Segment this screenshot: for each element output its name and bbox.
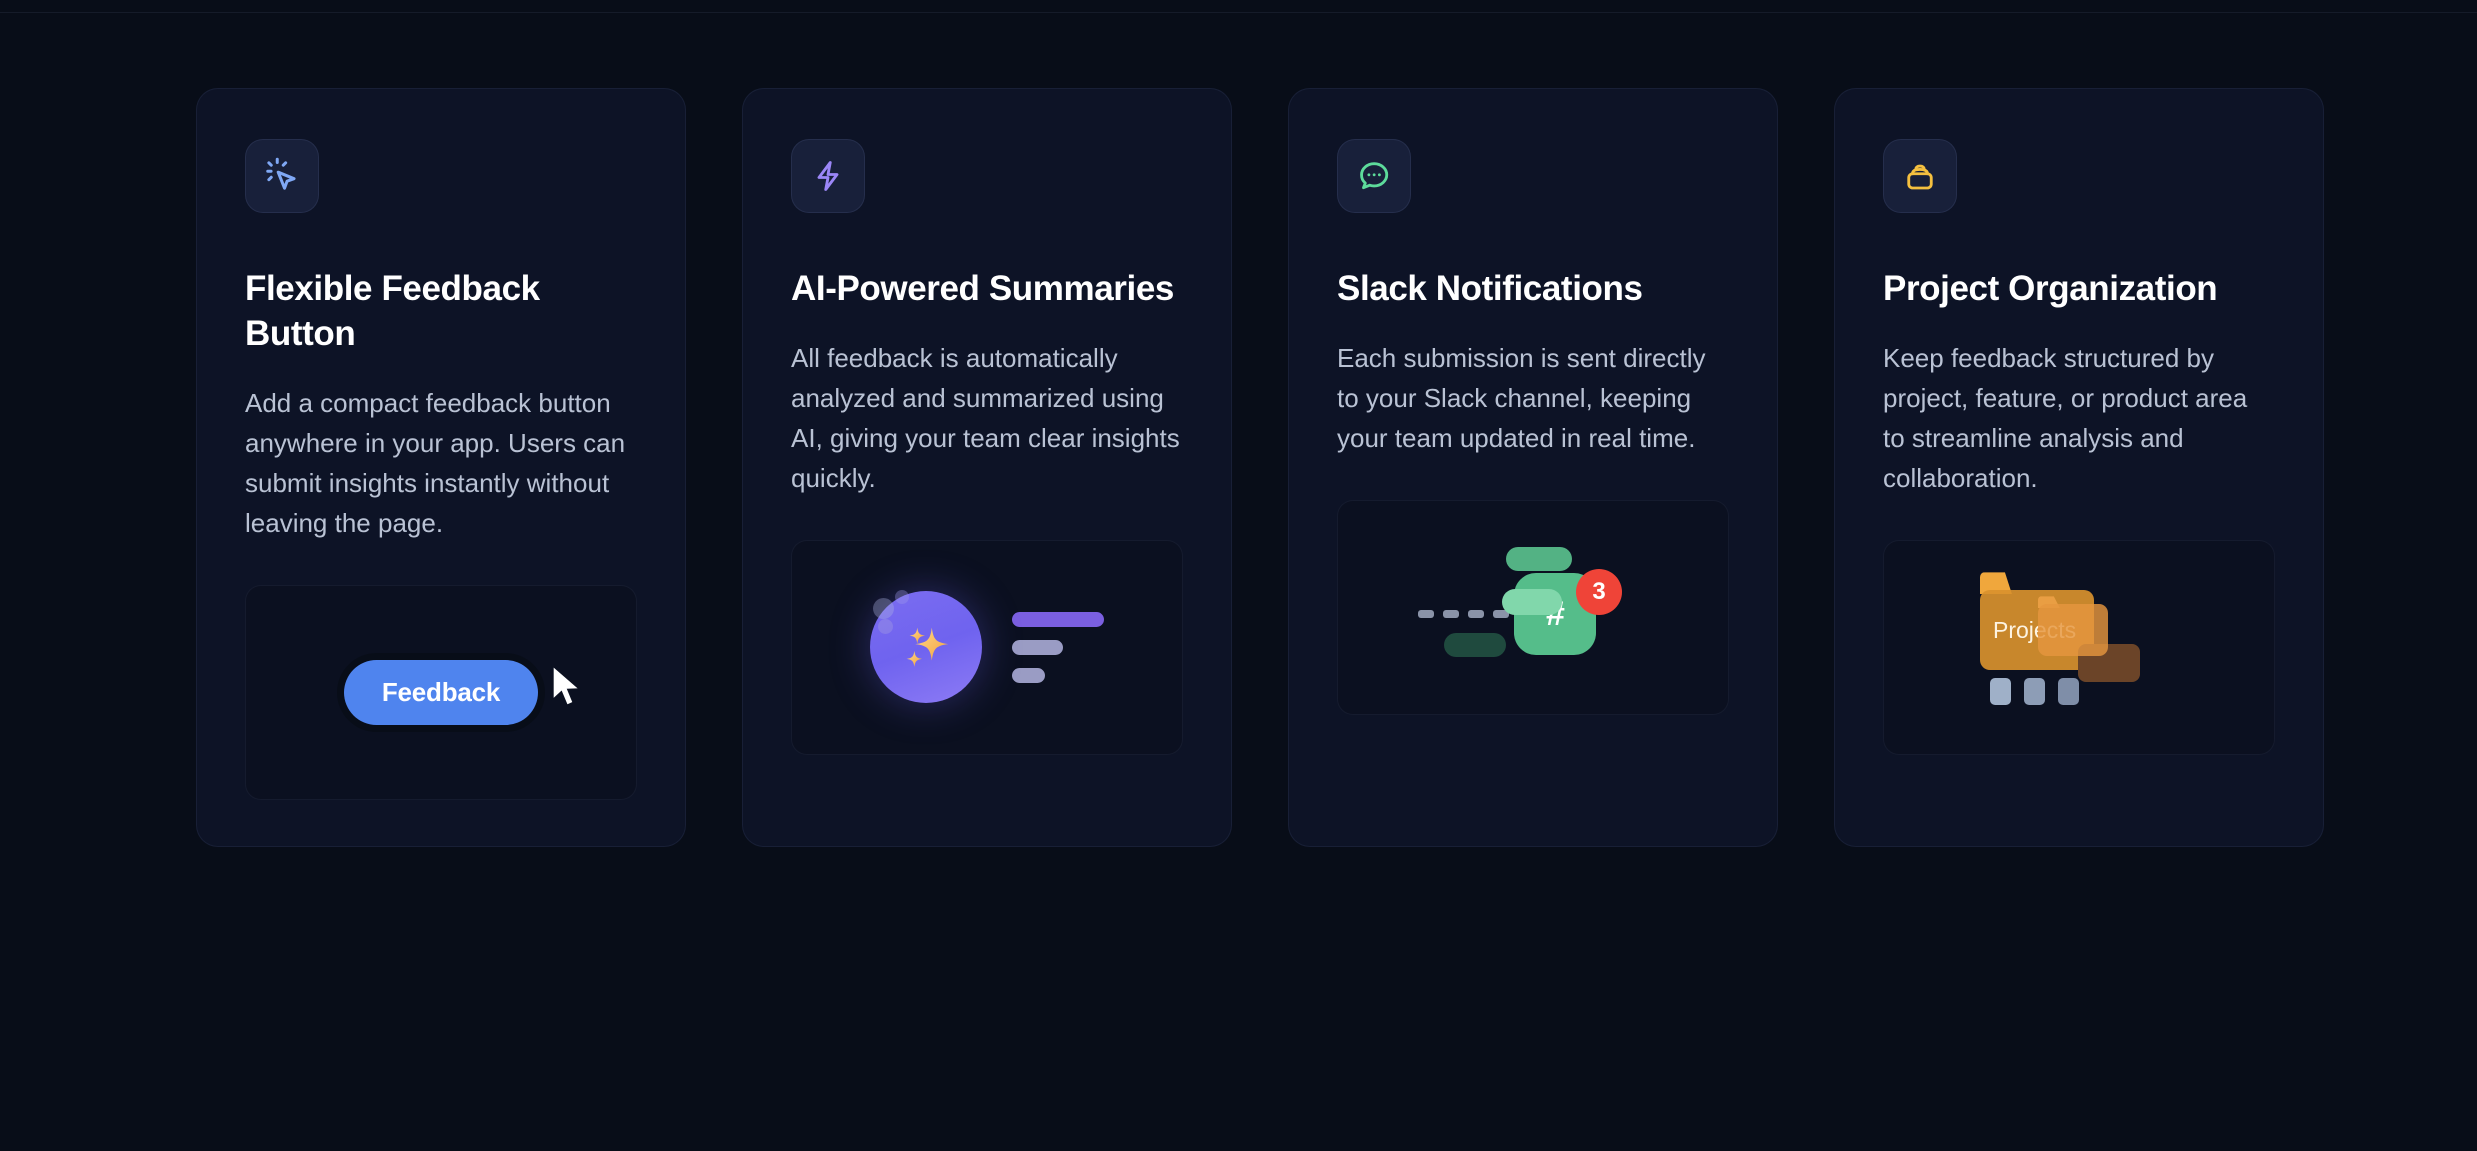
ai-summary-line-2 xyxy=(1012,640,1063,655)
illustration-stacked-folders: Projects xyxy=(1883,540,2275,755)
feature-card-slack-notifications[interactable]: Slack Notifications Each submission is s… xyxy=(1288,88,1778,847)
feedback-button[interactable]: Feedback xyxy=(344,660,538,725)
feature-card-project-organization[interactable]: Project Organization Keep feedback struc… xyxy=(1834,88,2324,847)
card-title: Project Organization xyxy=(1883,267,2275,312)
slack-scene: # 3 xyxy=(1418,547,1648,667)
mouse-pointer-icon xyxy=(550,664,584,710)
project-chip xyxy=(1990,678,2011,705)
card-title: AI-Powered Summaries xyxy=(791,267,1183,312)
cursor-click-icon xyxy=(245,139,319,213)
card-title: Flexible Feedback Button xyxy=(245,267,637,357)
feature-card-flexible-feedback-button[interactable]: Flexible Feedback Button Add a compact f… xyxy=(196,88,686,847)
slack-pill-bottom xyxy=(1444,633,1506,657)
illustration-feedback-button-demo: Feedback xyxy=(245,585,637,800)
project-chip xyxy=(2058,678,2079,705)
page-top-divider xyxy=(0,12,2477,13)
project-chip-row xyxy=(1990,678,2079,705)
features-grid: Flexible Feedback Button Add a compact f… xyxy=(196,88,2324,847)
feedback-button-wrapper: Feedback xyxy=(344,660,538,725)
briefcase-icon xyxy=(1883,139,1957,213)
feature-section-page: Flexible Feedback Button Add a compact f… xyxy=(0,0,2477,1151)
flow-dash xyxy=(1418,610,1434,618)
flow-dash xyxy=(1443,610,1459,618)
lightning-bolt-icon xyxy=(791,139,865,213)
card-title: Slack Notifications xyxy=(1337,267,1729,312)
slack-pill-top xyxy=(1506,547,1572,571)
card-description: Add a compact feedback button anywhere i… xyxy=(245,383,637,543)
orb-bubble-3 xyxy=(895,590,909,604)
card-description: All feedback is automatically analyzed a… xyxy=(791,338,1183,498)
slack-pill-middle xyxy=(1502,589,1562,615)
illustration-slack-notification: # 3 xyxy=(1337,500,1729,715)
orb-bubble-2 xyxy=(878,619,893,634)
card-description: Keep feedback structured by project, fea… xyxy=(1883,338,2275,498)
chat-bubble-dots-icon xyxy=(1337,139,1411,213)
notification-badge: 3 xyxy=(1576,569,1622,615)
card-description: Each submission is sent directly to your… xyxy=(1337,338,1729,458)
ai-summary-line-1 xyxy=(1012,612,1104,627)
orb-bubble-1 xyxy=(873,598,894,619)
folder-secondary xyxy=(2038,604,2108,656)
project-chip xyxy=(2024,678,2045,705)
ai-summary-lines xyxy=(1012,612,1104,683)
flow-dash xyxy=(1468,610,1484,618)
ai-summary-line-3 xyxy=(1012,668,1045,683)
illustration-ai-orb xyxy=(791,540,1183,755)
sparkles-icon xyxy=(895,616,957,678)
projects-scene: Projects xyxy=(1964,572,2194,722)
ai-orb xyxy=(870,591,982,703)
feature-card-ai-powered-summaries[interactable]: AI-Powered Summaries All feedback is aut… xyxy=(742,88,1232,847)
